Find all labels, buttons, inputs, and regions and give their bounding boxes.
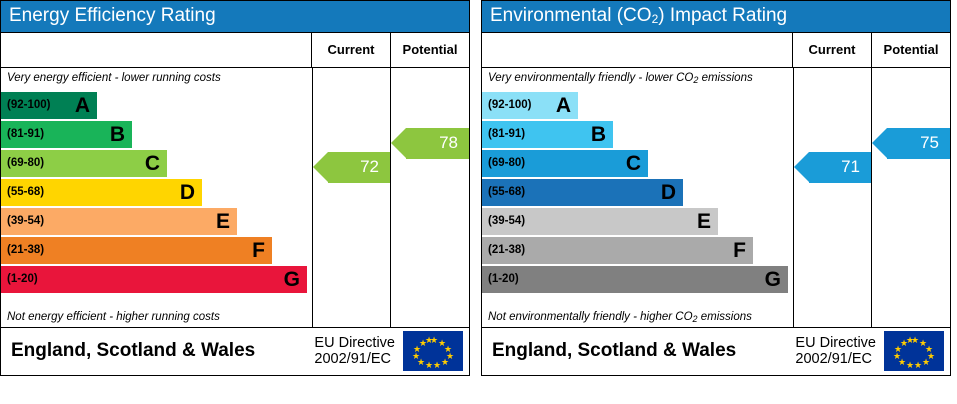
co2-top-caption-sub: 2 <box>693 75 698 85</box>
co2-directive-line2: 2002/91/EC <box>795 351 876 368</box>
band-f: (21-38) F <box>482 237 753 264</box>
band-a: (92-100) A <box>482 92 578 119</box>
co2-bottom-caption-sub: 2 <box>693 314 698 324</box>
band-g: (1-20) G <box>482 266 788 293</box>
eu-flag-icon: ★ ★ ★ ★ ★ ★ ★ ★ ★ ★ ★ ★ <box>884 331 944 371</box>
energy-current-arrow: 72 <box>328 152 390 183</box>
arrow-point-icon <box>872 128 887 158</box>
band-g: (1-20) G <box>1 266 307 293</box>
energy-body: Very energy efficient - lower running co… <box>1 68 469 327</box>
band-b-range: (81-91) <box>7 128 44 140</box>
band-b: (81-91) B <box>482 121 613 148</box>
energy-current-value: 72 <box>360 157 379 177</box>
co2-title-main: Environmental (CO <box>490 5 652 26</box>
co2-footer-directive: EU Directive 2002/91/EC <box>795 335 884 368</box>
energy-chart-title: Energy Efficiency Rating <box>1 1 469 33</box>
co2-bottom-caption-tail: emissions <box>698 311 752 323</box>
band-a-range: (92-100) <box>7 99 50 111</box>
co2-footer: England, Scotland & Wales EU Directive 2… <box>482 327 950 375</box>
band-f-range: (21-38) <box>7 244 44 256</box>
energy-header-potential: Potential <box>391 33 469 67</box>
band-a-range: (92-100) <box>488 99 531 111</box>
band-e-letter: E <box>697 211 711 232</box>
band-f: (21-38) F <box>1 237 272 264</box>
co2-top-caption-tail: emissions <box>698 72 752 84</box>
band-a-letter: A <box>75 95 90 116</box>
band-a-letter: A <box>556 95 571 116</box>
co2-band-list: (92-100) A (81-91) B (69-80) C (55-68) D <box>482 92 793 295</box>
band-e-range: (39-54) <box>7 215 44 227</box>
co2-potential-value: 75 <box>920 133 939 153</box>
energy-directive-line2: 2002/91/EC <box>314 351 395 368</box>
energy-header-row: Current Potential <box>1 33 469 68</box>
co2-top-caption: Very environmentally friendly - lower CO… <box>482 68 793 85</box>
band-d-letter: D <box>180 182 195 203</box>
band-f-letter: F <box>252 240 265 261</box>
co2-current-value: 71 <box>841 157 860 177</box>
band-c-letter: C <box>626 153 641 174</box>
energy-bottom-caption: Not energy efficient - higher running co… <box>1 307 312 324</box>
band-c: (69-80) C <box>482 150 648 177</box>
band-f-range: (21-38) <box>488 244 525 256</box>
co2-header-blank <box>482 33 793 67</box>
energy-band-list: (92-100) A (81-91) B (69-80) C (55-68) D <box>1 92 312 295</box>
energy-header-current: Current <box>312 33 391 67</box>
energy-footer-country: England, Scotland & Wales <box>1 340 314 362</box>
co2-header-row: Current Potential <box>482 33 950 68</box>
band-g-range: (1-20) <box>7 273 38 285</box>
arrow-point-icon <box>313 152 328 182</box>
energy-footer-directive: EU Directive 2002/91/EC <box>314 335 403 368</box>
band-g-range: (1-20) <box>488 273 519 285</box>
co2-top-caption-main: Very environmentally friendly - lower CO <box>488 72 693 84</box>
co2-bars-column: Very environmentally friendly - lower CO… <box>482 68 794 327</box>
band-e: (39-54) E <box>1 208 237 235</box>
energy-potential-column: 78 <box>391 68 469 327</box>
co2-header-current: Current <box>793 33 872 67</box>
band-d-letter: D <box>661 182 676 203</box>
co2-directive-line1: EU Directive <box>795 335 876 352</box>
co2-current-arrow: 71 <box>809 152 871 183</box>
eu-flag-icon: ★ ★ ★ ★ ★ ★ ★ ★ ★ ★ ★ ★ <box>403 331 463 371</box>
co2-chart-title: Environmental (CO2) Impact Rating <box>482 1 950 33</box>
band-c-range: (69-80) <box>7 157 44 169</box>
co2-potential-arrow: 75 <box>887 128 950 159</box>
band-g-letter: G <box>765 269 781 290</box>
co2-potential-column: 75 <box>872 68 950 327</box>
band-b: (81-91) B <box>1 121 132 148</box>
band-b-range: (81-91) <box>488 128 525 140</box>
energy-bars-column: Very energy efficient - lower running co… <box>1 68 313 327</box>
co2-impact-certificate: Environmental (CO2) Impact Rating Curren… <box>481 0 951 376</box>
energy-header-blank <box>1 33 312 67</box>
energy-directive-line1: EU Directive <box>314 335 395 352</box>
band-f-letter: F <box>733 240 746 261</box>
band-d-range: (55-68) <box>7 186 44 198</box>
band-b-letter: B <box>110 124 125 145</box>
band-e-range: (39-54) <box>488 215 525 227</box>
band-d: (55-68) D <box>1 179 202 206</box>
co2-bottom-caption-main: Not environmentally friendly - higher CO <box>488 311 693 323</box>
energy-potential-arrow: 78 <box>406 128 469 159</box>
co2-title-tail: ) Impact Rating <box>658 5 787 26</box>
band-d: (55-68) D <box>482 179 683 206</box>
co2-header-potential: Potential <box>872 33 950 67</box>
co2-title-sub: 2 <box>652 12 659 26</box>
band-c: (69-80) C <box>1 150 167 177</box>
energy-footer: England, Scotland & Wales EU Directive 2… <box>1 327 469 375</box>
arrow-point-icon <box>391 128 406 158</box>
band-c-letter: C <box>145 153 160 174</box>
co2-current-column: 71 <box>794 68 872 327</box>
band-d-range: (55-68) <box>488 186 525 198</box>
co2-body: Very environmentally friendly - lower CO… <box>482 68 950 327</box>
band-e-letter: E <box>216 211 230 232</box>
band-c-range: (69-80) <box>488 157 525 169</box>
energy-top-caption: Very energy efficient - lower running co… <box>1 68 312 85</box>
co2-bottom-caption: Not environmentally friendly - higher CO… <box>482 307 793 324</box>
co2-footer-country: England, Scotland & Wales <box>482 340 795 362</box>
energy-efficiency-certificate: Energy Efficiency Rating Current Potenti… <box>0 0 470 376</box>
arrow-point-icon <box>794 152 809 182</box>
band-g-letter: G <box>284 269 300 290</box>
energy-potential-value: 78 <box>439 133 458 153</box>
band-a: (92-100) A <box>1 92 97 119</box>
band-e: (39-54) E <box>482 208 718 235</box>
band-b-letter: B <box>591 124 606 145</box>
energy-current-column: 72 <box>313 68 391 327</box>
